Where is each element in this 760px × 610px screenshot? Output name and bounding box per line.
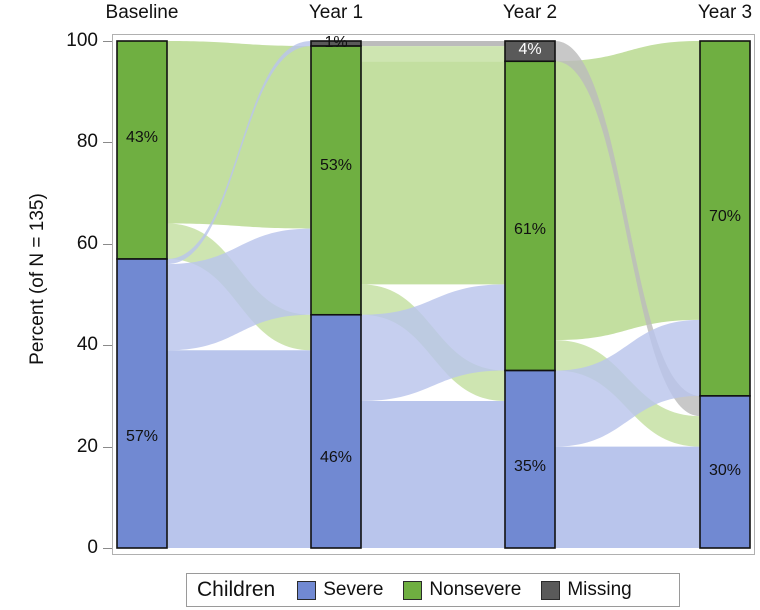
chart-root: Percent (of N = 135) 100806040200 Baseli… xyxy=(0,0,760,610)
bar-segment-baseline-severe[interactable] xyxy=(117,259,167,548)
flow-nonsevere-to-nonsevere xyxy=(361,61,505,284)
legend-swatch-severe-icon xyxy=(297,581,316,600)
flow-nonsevere-to-nonsevere xyxy=(555,41,700,340)
flow-severe-to-severe xyxy=(361,401,505,548)
bar-segment-year-1-severe[interactable] xyxy=(311,315,361,548)
bar-segment-year-2-nonsevere[interactable] xyxy=(505,61,555,370)
flow-severe-to-severe xyxy=(167,350,311,548)
legend-label-severe: Severe xyxy=(323,579,383,601)
flow-nonsevere-to-nonsevere xyxy=(167,41,311,229)
alluvial-svg xyxy=(112,34,755,555)
bar-segment-year-3-nonsevere[interactable] xyxy=(700,41,750,396)
legend-label-missing: Missing xyxy=(567,579,631,601)
bar-segment-year-2-missing[interactable] xyxy=(505,41,555,61)
stage-label-year-2: Year 2 xyxy=(460,2,600,24)
bar-segment-year-3-severe[interactable] xyxy=(700,396,750,548)
flow-severe-to-severe xyxy=(555,447,700,548)
legend-item-missing[interactable]: Missing xyxy=(541,579,631,601)
y-tick-label-20: 20 xyxy=(40,436,98,458)
y-tick-label-100: 100 xyxy=(40,30,98,52)
legend-swatch-nonsevere-icon xyxy=(403,581,422,600)
legend-swatch-missing-icon xyxy=(541,581,560,600)
stage-label-year-1: Year 1 xyxy=(266,2,406,24)
alluvial-canvas xyxy=(112,34,755,555)
stage-label-baseline: Baseline xyxy=(72,2,212,24)
legend-title: Children xyxy=(197,578,275,602)
flow-nonsevere-to-missing xyxy=(361,46,505,61)
legend-items: SevereNonsevereMissing xyxy=(297,579,652,601)
legend-item-nonsevere[interactable]: Nonsevere xyxy=(403,579,521,601)
legend: Children SevereNonsevereMissing xyxy=(186,573,680,607)
y-axis-title: Percent (of N = 135) xyxy=(27,149,49,409)
y-tick-label-0: 0 xyxy=(40,537,98,559)
y-tick-label-60: 60 xyxy=(40,233,98,255)
flow-missing-to-missing xyxy=(361,41,505,46)
legend-label-nonsevere: Nonsevere xyxy=(429,579,521,601)
stage-label-year-3: Year 3 xyxy=(655,2,760,24)
legend-item-severe[interactable]: Severe xyxy=(297,579,383,601)
y-tick-label-40: 40 xyxy=(40,334,98,356)
y-tick-label-80: 80 xyxy=(40,131,98,153)
bar-segment-year-1-nonsevere[interactable] xyxy=(311,46,361,315)
bar-segment-baseline-nonsevere[interactable] xyxy=(117,41,167,259)
bar-segment-year-2-severe[interactable] xyxy=(505,371,555,548)
